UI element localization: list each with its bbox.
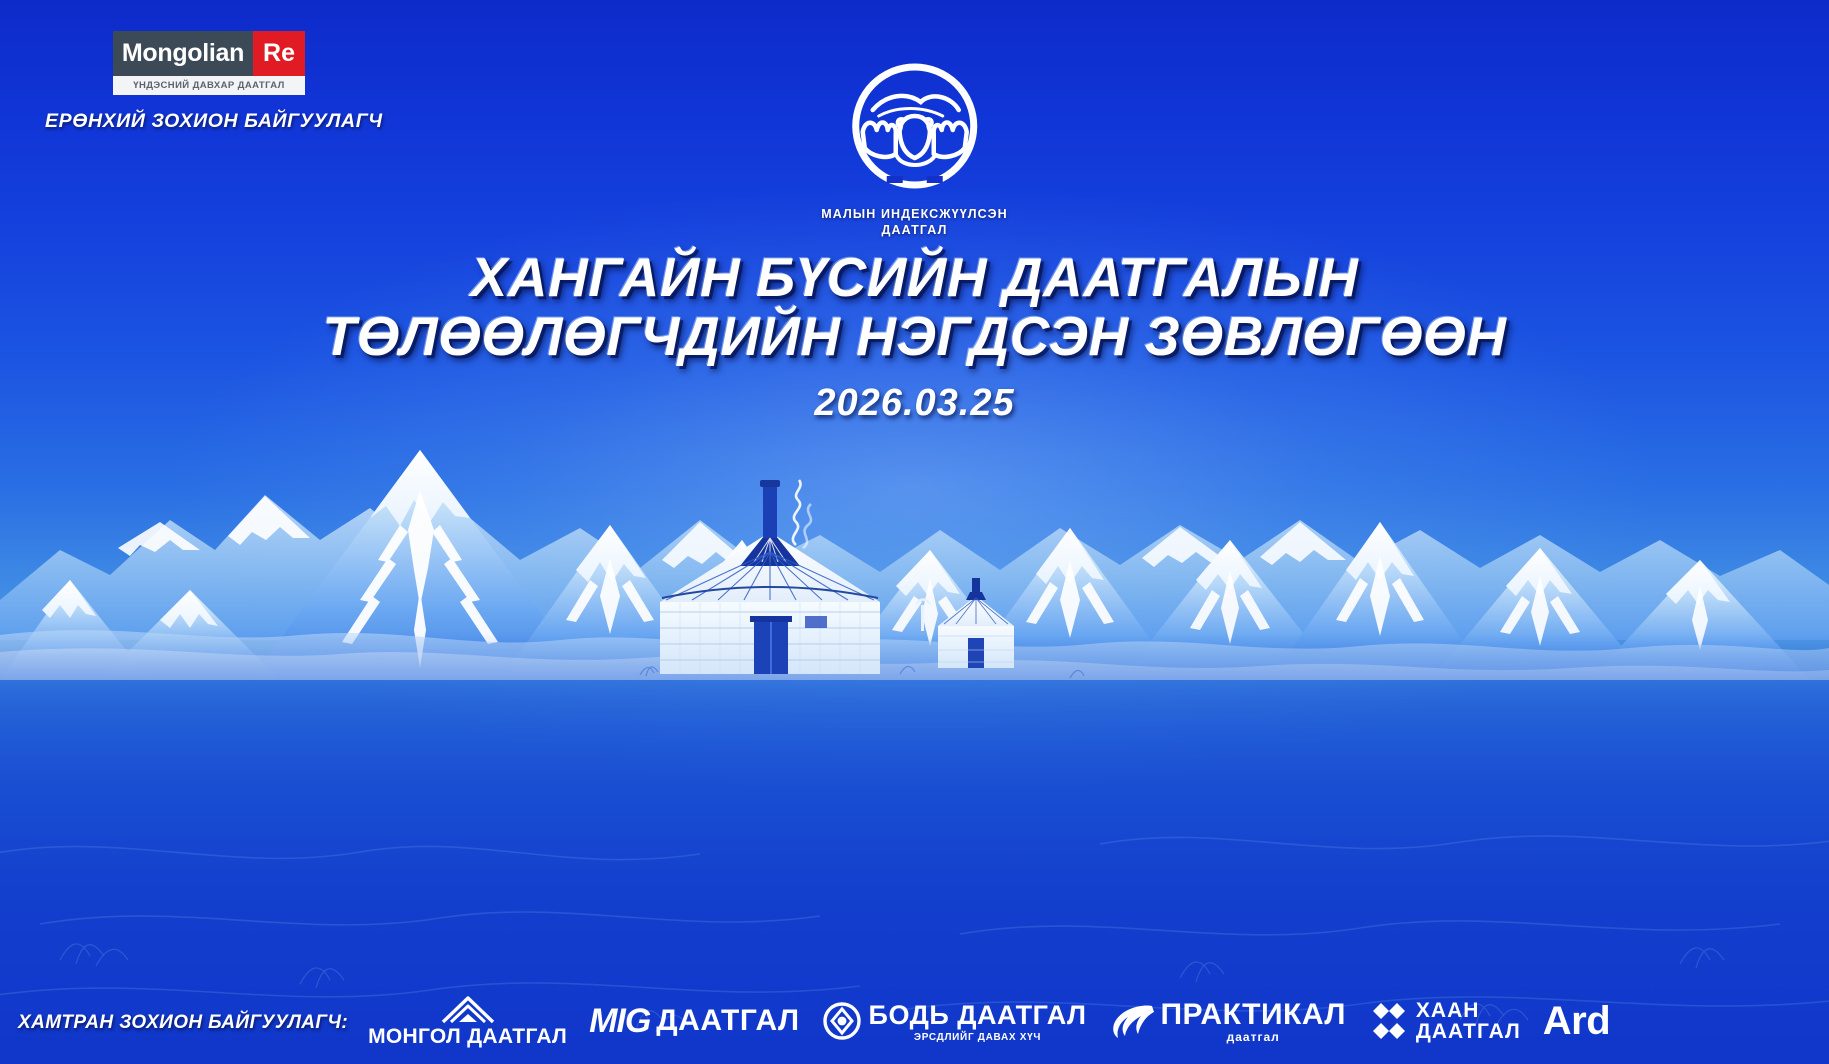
partner-logo-praktikal-daatgal[interactable]: ПРАКТИКАЛ даатгал (1108, 998, 1345, 1044)
mongolian-re-subtitle: ҮНДЭСНИЙ ДАВХАР ДААТГАЛ (113, 76, 305, 95)
partner-logo-bar: ХАМТРАН ЗОХИОН БАЙГУУЛАГЧ: МОНГОЛ ДААТГА… (0, 972, 1829, 1064)
livestock-insurance-emblem: МАЛЫН ИНДЕКСЖҮҮЛСЭН ДААТГАЛ (821, 58, 1008, 238)
title-block: ХАНГАЙН БҮСИЙН ДААТГАЛЫН ТӨЛӨӨЛӨГЧДИЙН Н… (0, 248, 1829, 425)
partner-name-khaan-line2: ДААТГАЛ (1416, 1021, 1521, 1042)
mongolian-re-suffix: Re (253, 31, 305, 76)
partner-logo-ard[interactable]: Ard (1543, 999, 1610, 1044)
page-title-line1: ХАНГАЙН БҮСИЙН ДААТГАЛЫН (0, 248, 1829, 307)
banner-stage: Mongolian Re ҮНДЭСНИЙ ДАВХАР ДААТГАЛ ЕРӨ… (0, 0, 1829, 1064)
partner-logo-mongol-daatgal[interactable]: МОНГОЛ ДААТГАЛ (368, 994, 567, 1049)
mongolian-re-name: Mongolian (113, 31, 253, 76)
bird-swoosh-icon (1108, 1000, 1156, 1042)
livestock-circle-emblem-icon (838, 58, 990, 198)
partner-name-khaan-line1: ХААН (1416, 1000, 1521, 1021)
partner-tagline-praktikal: даатгал (1160, 1030, 1345, 1044)
ger-small (916, 578, 1014, 668)
smoke-trail (793, 480, 811, 548)
emblem-caption-line1: МАЛЫН ИНДЕКСЖҮҮЛСЭН (821, 207, 1008, 223)
partner-name-mongol-daatgal: МОНГОЛ ДААТГАЛ (368, 1025, 567, 1049)
soyombo-knot-icon (1368, 999, 1410, 1043)
event-date: 2026.03.25 (0, 382, 1829, 425)
co-organizer-label: ХАМТРАН ЗОХИОН БАЙГУУЛАГЧ: (18, 1012, 348, 1034)
roof-arch-icon (439, 994, 497, 1024)
partner-name-praktikal: ПРАКТИКАЛ (1160, 998, 1345, 1032)
partner-name-ard: Ard (1543, 999, 1610, 1044)
organizer-label: ЕРӨНХИЙ ЗОХИОН БАЙГУУЛАГЧ (45, 110, 383, 133)
partner-name-mig-daatgal: ДААТГАЛ (656, 1004, 799, 1038)
mig-wordmark-icon: MIG (589, 1002, 650, 1041)
partner-name-bodi-daatgal: БОДЬ ДААТГАЛ (869, 1000, 1087, 1031)
partner-logo-bodi-daatgal[interactable]: БОДЬ ДААТГАЛ ЭРСДЛИЙГ ДАВАХ ХҮЧ (822, 1000, 1087, 1043)
page-title-line2: ТӨЛӨӨЛӨГЧДИЙН НЭГДСЭН ЗӨВЛӨГӨӨН (0, 307, 1829, 366)
ger-large (660, 480, 880, 674)
partner-logo-khaan-daatgal[interactable]: ХААН ДААТГАЛ (1368, 999, 1521, 1043)
emblem-caption-line2: ДААТГАЛ (821, 223, 1008, 239)
ger-camp-illustration (600, 470, 1120, 720)
partner-logo-mig-daatgal[interactable]: MIG ДААТГАЛ (589, 1002, 799, 1041)
mongolian-re-logo: Mongolian Re ҮНДЭСНИЙ ДАВХАР ДААТГАЛ (113, 31, 305, 95)
mongolian-re-logo-top: Mongolian Re (113, 31, 305, 76)
diamond-circle-icon (822, 1001, 862, 1041)
partner-tagline-bodi-daatgal: ЭРСДЛИЙГ ДАВАХ ХҮЧ (869, 1032, 1087, 1043)
emblem-caption: МАЛЫН ИНДЕКСЖҮҮЛСЭН ДААТГАЛ (821, 207, 1008, 238)
